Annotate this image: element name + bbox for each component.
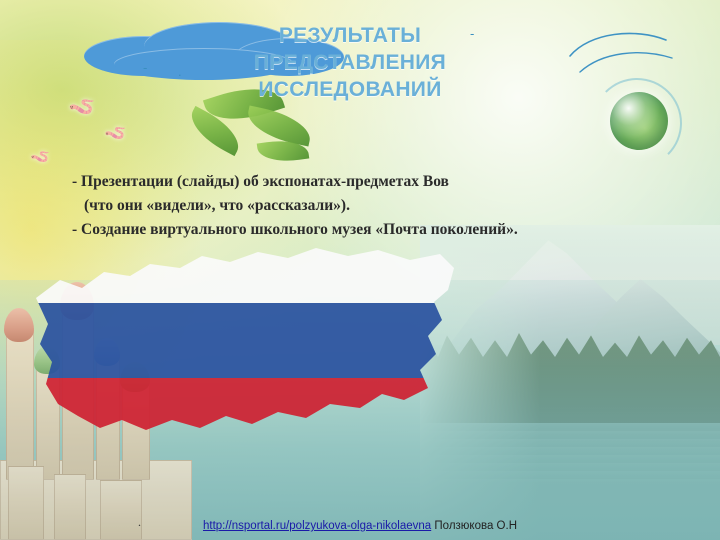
title-line-2: ПРЕДСТАВЛЕНИЯ [140,49,560,76]
page-title: РЕЗУЛЬТАТЫ ПРЕДСТАВЛЕНИЯ ИССЛЕДОВАНИЙ [140,22,560,103]
body-line-3: - Создание виртуального школьного музея … [72,218,652,242]
body-line-1: - Презентации (слайды) об экспонатах-пре… [72,170,652,194]
dove-icon: 🪱 [68,96,95,118]
title-line-3: ИССЛЕДОВАНИЙ [140,76,560,103]
dove-icon: 🪱 [30,150,50,166]
source-link[interactable]: http://nsportal.ru/polzyukova-olga-nikol… [203,520,431,532]
dove-icon: 🪱 [104,124,126,142]
title-line-1: РЕЗУЛЬТАТЫ [140,22,560,49]
body-line-2: (что они «видели», что «рассказали»). [72,194,652,218]
flag-map-svg [30,228,460,453]
slide-body: - Презентации (слайды) об экспонатах-пре… [72,170,652,242]
slide-footer: http://nsportal.ru/polzyukova-olga-nikol… [0,520,720,532]
author-name: Ползюкова О.Н [434,520,517,532]
russia-flag-map [30,228,460,453]
swirl-decoration [562,22,692,78]
presentation-slide: 🪱 🪱 🪱 - - . РЕЗУЛЬТАТЫ ПРЕДСТАВЛЕНИЯ ИСС… [0,0,720,540]
bubble-ring-decoration [592,78,682,168]
